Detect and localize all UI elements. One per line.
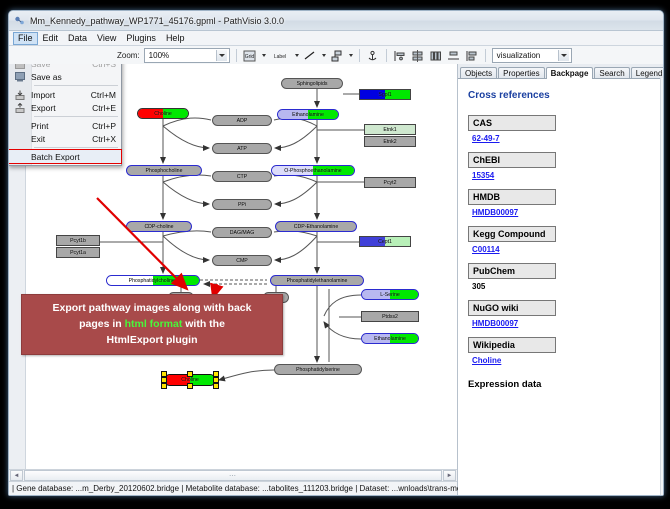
chevron-down-icon[interactable]: [216, 50, 227, 61]
node-label: ATP: [237, 146, 247, 152]
xref-source-cas: CAS: [468, 115, 556, 131]
pathway-node-etnk1[interactable]: Etnk1: [364, 124, 416, 135]
xref-source-kegg-compound: Kegg Compound: [468, 226, 556, 242]
label-dropdown-icon[interactable]: [295, 54, 299, 57]
menu-item-no-icon: [9, 150, 31, 163]
tab-properties[interactable]: Properties: [498, 67, 544, 78]
xref-value-cas[interactable]: 62-49-7: [472, 134, 658, 143]
annotation-callout: Export pathway images along with back pa…: [21, 294, 283, 355]
svg-text:Grid: Grid: [245, 54, 255, 60]
tab-objects[interactable]: Objects: [460, 67, 497, 78]
menu-item-label: Save as: [31, 72, 121, 82]
file-menu-item-export[interactable]: ExportCtrl+E: [9, 101, 121, 114]
expression-data-heading: Expression data: [468, 379, 658, 390]
stack-icon[interactable]: [447, 49, 461, 63]
label-icon[interactable]: Label: [270, 49, 290, 63]
toolbar-separator: [236, 49, 237, 62]
pathway-node-adp[interactable]: ADP: [212, 115, 272, 126]
node-label: Ethanolamine: [292, 112, 324, 118]
scroll-right-icon[interactable]: ►: [443, 470, 456, 481]
xref-value-wikipedia[interactable]: Choline: [472, 356, 658, 365]
visualization-value: visualization: [497, 51, 541, 60]
menu-item-accelerator: Ctrl+X: [92, 134, 121, 144]
node-label: Phosphatidylserine: [296, 367, 340, 373]
toolbar-separator-4: [485, 49, 486, 62]
file-menu-item-print[interactable]: PrintCtrl+P: [9, 119, 121, 132]
node-label: Ptdss2: [382, 314, 398, 320]
title-bar: Mm_Kennedy_pathway_WP1771_45176.gpml - P…: [9, 11, 663, 31]
menu-separator: [34, 85, 118, 86]
xref-source-nugo-wiki: NuGO wiki: [468, 300, 556, 316]
tab-backpage[interactable]: Backpage: [546, 67, 594, 79]
node-label: Ethanolamine: [374, 336, 406, 342]
pathway-canvas[interactable]: CholinePhosphocholineCDP-cholinePhosphat…: [9, 64, 457, 469]
pathway-node-ptdss2[interactable]: Ptdss2: [361, 311, 419, 322]
cross-references-heading: Cross references: [468, 90, 658, 101]
menu-item-no-icon: [9, 132, 31, 145]
annotation-line-1: Export pathway images along with back: [26, 301, 278, 317]
toolbar: Zoom: 100% Grid Label: [9, 46, 663, 66]
backpage-content[interactable]: Cross references CAS62-49-7ChEBI15354HMD…: [458, 79, 664, 495]
menu-edit[interactable]: Edit: [38, 32, 64, 45]
grid-dropdown-icon[interactable]: [262, 54, 266, 57]
node-label: CTP: [237, 174, 247, 180]
pathway-node-ethanolamine-1[interactable]: Ethanolamine: [277, 109, 339, 120]
menu-item-label: Exit: [31, 134, 92, 144]
annotation-highlight: html format: [125, 318, 183, 330]
menu-separator: [34, 147, 118, 148]
node-label: Sgpl1: [378, 92, 391, 98]
file-menu-popup: NewCtrl+NOpenCtrl+OOpen Recent▶SaveCtrl+…: [9, 64, 122, 166]
node-label: Pcyt2: [384, 180, 397, 186]
node-label: Etnk2: [383, 139, 396, 145]
import-icon: [9, 88, 31, 101]
side-panel-tabs: ObjectsPropertiesBackpageSearchLegend: [458, 64, 664, 79]
toolbar-separator-2: [359, 49, 360, 62]
annotation-line-2-b: with the: [182, 318, 225, 330]
menu-bar: File Edit Data View Plugins Help: [9, 31, 663, 46]
save-as-icon: [9, 70, 31, 83]
node-label: CDP-Ethanolamine: [294, 224, 338, 230]
menu-plugins[interactable]: Plugins: [121, 32, 161, 45]
node-label: Cept1: [378, 239, 392, 245]
distribute-icon[interactable]: [429, 49, 443, 63]
file-menu-item-batch-export[interactable]: Batch Export: [9, 150, 121, 163]
pathway-pane: CholinePhosphocholineCDP-cholinePhosphat…: [9, 64, 458, 495]
scroll-thumb[interactable]: ⋯: [24, 470, 442, 481]
xref-value-pubchem: 305: [472, 282, 658, 291]
cross-reference-list: CAS62-49-7ChEBI15354HMDBHMDB00097Kegg Co…: [468, 115, 658, 365]
svg-text:Label: Label: [274, 54, 286, 60]
zoom-value: 100%: [149, 51, 169, 60]
xref-source-pubchem: PubChem: [468, 263, 556, 279]
xref-source-hmdb: HMDB: [468, 189, 556, 205]
xref-value-hmdb[interactable]: HMDB00097: [472, 208, 658, 217]
menu-item-label: Batch Export: [31, 152, 121, 162]
menu-item-accelerator: Ctrl+E: [92, 103, 121, 113]
node-label: Sphingolipids: [297, 81, 328, 87]
menu-data[interactable]: Data: [63, 32, 92, 45]
pathway-node-o-phosphoeth[interactable]: O-Phosphoethanolamine: [271, 165, 355, 176]
visualization-combobox[interactable]: visualization: [492, 48, 572, 63]
pathway-node-atp[interactable]: ATP: [212, 143, 272, 154]
pathway-node-sgpl1[interactable]: Sgpl1: [359, 89, 411, 100]
anchor-icon[interactable]: [366, 49, 380, 63]
chevron-down-icon-2[interactable]: [558, 50, 569, 61]
menu-help[interactable]: Help: [161, 32, 190, 45]
window-title: Mm_Kennedy_pathway_WP1771_45176.gpml - P…: [30, 16, 284, 26]
scroll-left-icon[interactable]: ◄: [10, 470, 23, 481]
node-label: Phosphocholine: [146, 168, 183, 174]
menu-separator: [34, 116, 118, 117]
menu-item-label: Export: [31, 103, 92, 113]
zoom-combobox[interactable]: 100%: [144, 48, 230, 63]
pathway-node-etnk2[interactable]: Etnk2: [364, 136, 416, 147]
tab-search[interactable]: Search: [594, 67, 629, 78]
file-menu-item-exit[interactable]: ExitCtrl+X: [9, 132, 121, 145]
menu-item-label: Import: [31, 90, 91, 100]
xref-value-nugo-wiki[interactable]: HMDB00097: [472, 319, 658, 328]
shape-icon[interactable]: [330, 49, 344, 63]
pathway-node-phosphocholine[interactable]: Phosphocholine: [126, 165, 202, 176]
tab-legend[interactable]: Legend: [631, 67, 664, 78]
node-label: L-Serine: [380, 292, 400, 298]
line-dropdown-icon[interactable]: [322, 54, 326, 57]
node-label: Choline: [154, 111, 172, 117]
pathway-node-pcyt2[interactable]: Pcyt2: [364, 177, 416, 188]
shape-dropdown-icon[interactable]: [349, 54, 353, 57]
line-icon[interactable]: [303, 49, 317, 63]
menu-item-label: Save: [31, 64, 92, 69]
annotation-line-2-a: pages in: [79, 318, 125, 330]
pathway-node-ethanolamine-2[interactable]: Ethanolamine: [361, 333, 419, 344]
menu-item-accelerator: Ctrl+S: [92, 64, 121, 69]
pathway-node-sphingolipids[interactable]: Sphingolipids: [281, 78, 343, 89]
xref-source-wikipedia: Wikipedia: [468, 337, 556, 353]
main-content: CholinePhosphocholineCDP-cholinePhosphat…: [9, 64, 663, 495]
xref-value-chebi[interactable]: 15354: [472, 171, 658, 180]
export-icon: [9, 101, 31, 114]
xref-value-kegg-compound[interactable]: C00114: [472, 245, 658, 254]
pathvisio-icon: [14, 15, 25, 26]
grid-icon[interactable]: Grid: [243, 49, 257, 63]
side-panel: ObjectsPropertiesBackpageSearchLegend Cr…: [458, 64, 664, 495]
node-label: ADP: [237, 118, 248, 124]
zoom-label: Zoom:: [117, 51, 140, 60]
align-center-icon[interactable]: [411, 49, 425, 63]
menu-view[interactable]: View: [92, 32, 121, 45]
file-menu-item-import[interactable]: ImportCtrl+M: [9, 88, 121, 101]
pathway-node-l-serine[interactable]: L-Serine: [361, 289, 419, 300]
menu-file[interactable]: File: [13, 32, 38, 45]
toolbar-separator-3: [386, 49, 387, 62]
menu-item-label: Print: [31, 121, 92, 131]
node-label: O-Phosphoethanolamine: [284, 168, 341, 174]
menu-item-accelerator: Ctrl+M: [91, 90, 121, 100]
pathway-node-ctp[interactable]: CTP: [212, 171, 272, 182]
annotation-line-2: pages in html format with the: [26, 317, 278, 333]
group-icon[interactable]: [465, 49, 479, 63]
menu-item-accelerator: Ctrl+P: [92, 121, 121, 131]
status-text: | Gene database: ...m_Derby_20120602.bri…: [12, 484, 488, 493]
desktop-background: Mm_Kennedy_pathway_WP1771_45176.gpml - P…: [0, 0, 670, 509]
file-menu-item-save-as[interactable]: Save as: [9, 70, 121, 83]
node-label: Etnk1: [383, 127, 396, 133]
pathway-node-choline-top[interactable]: Choline: [137, 108, 189, 119]
pathway-node-cept1[interactable]: Cept1: [359, 236, 411, 247]
menu-item-no-icon: [9, 119, 31, 132]
annotation-line-3: HtmlExport plugin: [26, 333, 278, 349]
side-panel-scrollbar[interactable]: [660, 78, 664, 495]
pathvisio-window: Mm_Kennedy_pathway_WP1771_45176.gpml - P…: [8, 10, 664, 496]
align-left-icon[interactable]: [393, 49, 407, 63]
canvas-horizontal-scrollbar[interactable]: ◄ ⋯ ►: [9, 469, 457, 481]
xref-source-chebi: ChEBI: [468, 152, 556, 168]
status-bar: | Gene database: ...m_Derby_20120602.bri…: [9, 481, 457, 495]
